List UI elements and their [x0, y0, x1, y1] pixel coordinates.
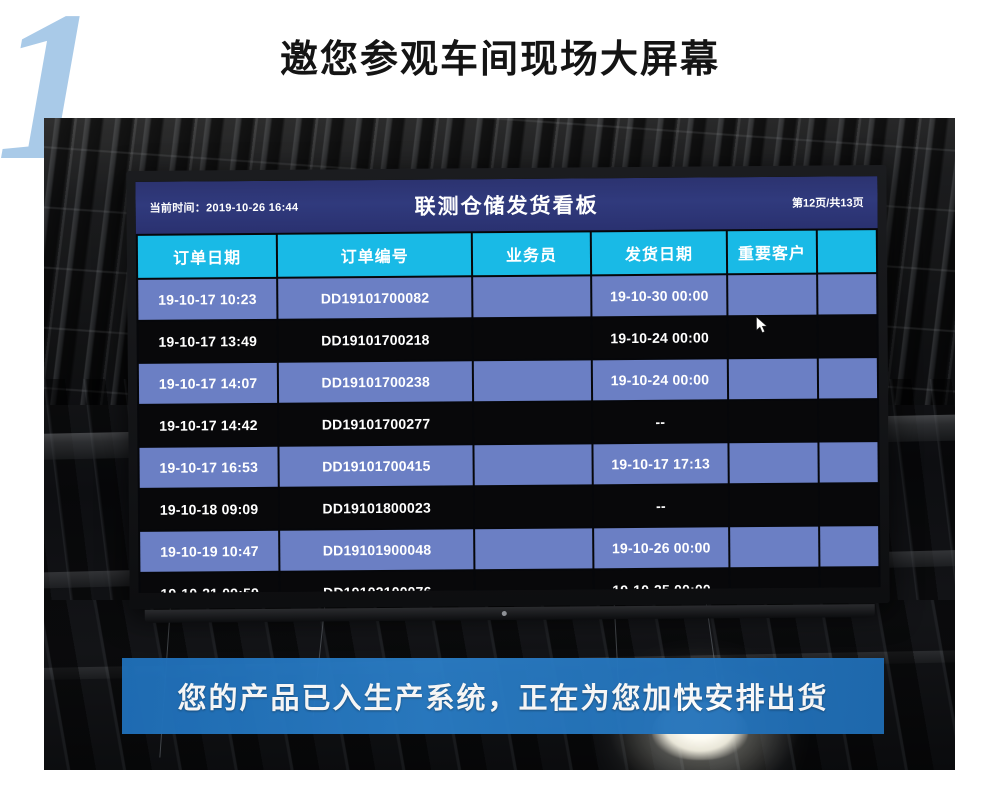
cell-extra — [818, 274, 877, 314]
tv-screen: 当前时间：2019-10-26 16:44 联测仓储发货看板 第12页/共13页… — [135, 176, 880, 593]
cell-key-customer — [730, 527, 818, 568]
pagination-label: 第12页/共13页 — [792, 194, 864, 211]
cell-ship-date: 19-10-24 00:00 — [592, 359, 727, 400]
cell-order-no: DD19101700415 — [280, 445, 473, 487]
cell-order-date: 19-10-17 10:23 — [138, 279, 277, 320]
cell-ship-date: 19-10-24 00:00 — [592, 317, 727, 358]
dashboard-title: 联测仓储发货看板 — [135, 187, 877, 223]
column-header-key-customer[interactable]: 重要客户 — [728, 231, 816, 274]
table-row[interactable]: 19-10-18 09:09 DD19101800023 -- — [140, 484, 878, 530]
cell-key-customer — [728, 275, 816, 316]
cell-order-no: DD19101800023 — [280, 487, 473, 529]
cell-order-date: 19-10-17 16:53 — [139, 447, 278, 488]
promo-page: 1 邀您参观车间现场大屏幕 当前时间：2019-10-26 16:44 联测仓储… — [0, 0, 1000, 798]
promo-banner-text: 您的产品已入生产系统，正在为您加快安排出货 — [177, 675, 828, 717]
cell-ship-date: -- — [593, 485, 728, 526]
cell-extra — [819, 400, 878, 440]
column-header-order-date[interactable]: 订单日期 — [138, 235, 277, 278]
cell-ship-date: 19-10-26 00:00 — [594, 527, 729, 568]
table-row[interactable]: 19-10-17 10:23 DD19101700082 19-10-30 00… — [138, 274, 876, 320]
column-header-ship-date[interactable]: 发货日期 — [591, 231, 726, 274]
cell-order-no: DD19102100076 — [281, 571, 474, 593]
cell-key-customer — [731, 569, 819, 593]
cell-order-date: 19-10-19 10:47 — [140, 531, 279, 572]
cell-ship-date: 19-10-30 00:00 — [592, 275, 727, 316]
cell-salesman — [475, 528, 592, 569]
table-row[interactable]: 19-10-17 14:42 DD19101700277 -- — [139, 400, 877, 446]
cell-salesman — [473, 276, 590, 317]
cell-extra — [820, 568, 879, 593]
cell-key-customer — [730, 485, 818, 526]
cell-order-no: DD19101700218 — [279, 319, 472, 361]
cell-key-customer — [730, 443, 818, 484]
shipping-board-table: 订单日期 订单编号 业务员 发货日期 重要客户 19-10-17 10:23 D… — [136, 228, 881, 593]
cell-extra — [819, 484, 878, 524]
cell-extra — [819, 358, 878, 398]
cell-extra — [820, 526, 879, 566]
cell-ship-date: 19-10-25 00:00 — [594, 569, 729, 593]
cell-salesman — [476, 570, 593, 593]
column-header-extra[interactable] — [817, 230, 876, 272]
cell-order-no: DD19101700277 — [279, 403, 472, 445]
cell-order-date: 19-10-21 09:59 — [140, 573, 279, 593]
table-body: 19-10-17 10:23 DD19101700082 19-10-30 00… — [138, 274, 879, 593]
column-header-salesman[interactable]: 业务员 — [473, 232, 590, 275]
cell-order-no: DD19101900048 — [280, 529, 473, 571]
cell-order-no: DD19101700238 — [279, 361, 472, 403]
promo-banner: 您的产品已入生产系统，正在为您加快安排出货 — [122, 658, 884, 734]
cell-order-date: 19-10-17 14:42 — [139, 405, 278, 446]
cell-order-date: 19-10-18 09:09 — [140, 489, 279, 530]
cell-salesman — [474, 318, 591, 359]
cell-salesman — [474, 402, 591, 443]
page-title: 邀您参观车间现场大屏幕 — [0, 28, 1000, 83]
cell-order-date: 19-10-17 13:49 — [138, 321, 277, 362]
cell-salesman — [475, 444, 592, 485]
cell-salesman — [474, 360, 591, 401]
table-row[interactable]: 19-10-19 10:47 DD19101900048 19-10-26 00… — [140, 526, 878, 572]
cell-order-date: 19-10-17 14:07 — [139, 363, 278, 404]
cell-extra — [818, 316, 877, 356]
table-row[interactable]: 19-10-17 16:53 DD19101700415 19-10-17 17… — [139, 442, 877, 488]
cell-ship-date: 19-10-17 17:13 — [593, 443, 728, 484]
table-header-row: 订单日期 订单编号 业务员 发货日期 重要客户 — [138, 230, 876, 278]
table-row[interactable]: 19-10-17 13:49 DD19101700218 19-10-24 00… — [138, 316, 876, 362]
workshop-photo: 当前时间：2019-10-26 16:44 联测仓储发货看板 第12页/共13页… — [44, 118, 955, 770]
cell-salesman — [475, 486, 592, 527]
cell-extra — [819, 442, 878, 482]
cell-key-customer — [729, 317, 817, 358]
wall-mounted-tv: 当前时间：2019-10-26 16:44 联测仓储发货看板 第12页/共13页… — [126, 165, 889, 609]
cell-key-customer — [729, 359, 817, 400]
cell-key-customer — [729, 401, 817, 442]
dashboard-header: 当前时间：2019-10-26 16:44 联测仓储发货看板 第12页/共13页 — [135, 176, 877, 234]
table-row[interactable]: 19-10-17 14:07 DD19101700238 19-10-24 00… — [139, 358, 877, 404]
table-row[interactable]: 19-10-21 09:59 DD19102100076 19-10-25 00… — [140, 568, 878, 593]
cell-ship-date: -- — [593, 401, 728, 442]
column-header-order-no[interactable]: 订单编号 — [278, 233, 471, 277]
cell-order-no: DD19101700082 — [278, 277, 471, 319]
